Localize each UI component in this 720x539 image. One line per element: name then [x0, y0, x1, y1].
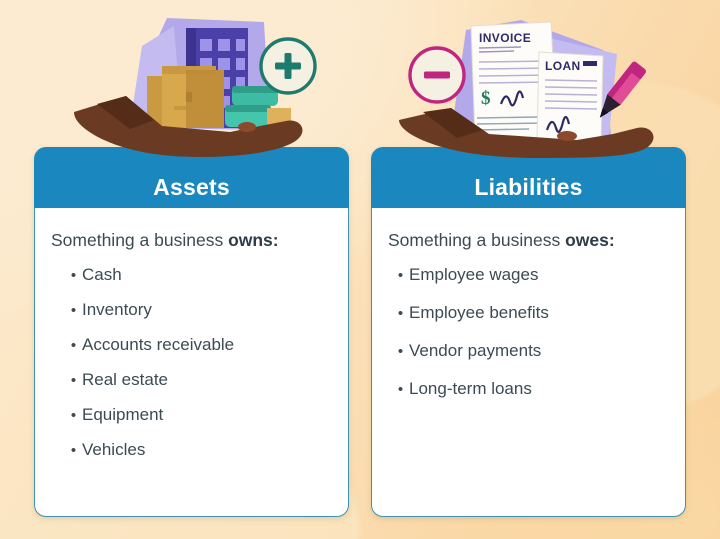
liabilities-card-header: Liabilities	[371, 147, 686, 208]
list-item: • Employee wages	[392, 266, 669, 283]
minus-circle-icon	[410, 48, 464, 102]
svg-text:INVOICE: INVOICE	[479, 31, 531, 45]
bullet-icon: •	[65, 443, 82, 458]
assets-card-header: Assets	[34, 147, 349, 208]
bullet-icon: •	[65, 408, 82, 423]
signature-pen	[593, 60, 647, 122]
list-item-label: Long-term loans	[409, 380, 532, 397]
office-building	[186, 28, 248, 128]
list-item: • Long-term loans	[392, 380, 669, 397]
bullet-icon: •	[65, 373, 82, 388]
loan-document: LOAN	[537, 52, 603, 142]
assets-card-body: Something a business owns: • Cash • Inve…	[34, 208, 349, 517]
liabilities-card-body: Something a business owes: • Employee wa…	[371, 208, 686, 517]
list-item-label: Employee wages	[409, 266, 538, 283]
assets-intro: Something a business owns:	[51, 230, 332, 252]
liabilities-intro-prefix: Something a business	[388, 230, 565, 250]
panel-assets: Assets Something a business owns: • Cash…	[34, 0, 349, 539]
bullet-icon: •	[392, 306, 409, 321]
list-item-label: Cash	[82, 266, 122, 283]
liabilities-intro: Something a business owes:	[388, 230, 669, 252]
list-item-label: Accounts receivable	[82, 336, 234, 353]
cardboard-boxes	[147, 66, 224, 128]
assets-card: Assets Something a business owns: • Cash…	[34, 147, 349, 517]
list-item-label: Inventory	[82, 301, 152, 318]
assets-list: • Cash • Inventory • Accounts receivable…	[51, 266, 332, 458]
list-item-label: Vehicles	[82, 441, 145, 458]
assets-intro-prefix: Something a business	[51, 230, 228, 250]
list-item-label: Employee benefits	[409, 304, 549, 321]
list-item: • Employee benefits	[392, 304, 669, 321]
liabilities-title: Liabilities	[474, 176, 582, 199]
comparison-panels: Assets Something a business owns: • Cash…	[0, 0, 720, 539]
list-item: • Cash	[65, 266, 332, 283]
list-item-label: Equipment	[82, 406, 163, 423]
svg-text:LOAN: LOAN	[545, 59, 581, 73]
plus-circle-icon	[261, 39, 315, 93]
svg-text:$: $	[481, 88, 491, 109]
cash-stacks	[225, 86, 291, 130]
list-item: • Inventory	[65, 301, 332, 318]
bullet-icon: •	[65, 303, 82, 318]
bullet-icon: •	[392, 344, 409, 359]
hand-holding-liabilities-illustration: INVOICE $	[371, 8, 686, 158]
list-item: • Equipment	[65, 406, 332, 423]
hand-holding-assets-illustration	[34, 8, 349, 158]
liabilities-card: Liabilities Something a business owes: •…	[371, 147, 686, 517]
bullet-icon: •	[65, 338, 82, 353]
list-item: • Accounts receivable	[65, 336, 332, 353]
list-item: • Vehicles	[65, 441, 332, 458]
bullet-icon: •	[392, 268, 409, 283]
bullet-icon: •	[65, 268, 82, 283]
list-item-label: Real estate	[82, 371, 168, 388]
assets-title: Assets	[153, 176, 230, 199]
liabilities-list: • Employee wages • Employee benefits • V…	[388, 266, 669, 397]
list-item-label: Vendor payments	[409, 342, 541, 359]
invoice-document: INVOICE $	[471, 22, 557, 140]
bullet-icon: •	[392, 382, 409, 397]
list-item: • Vendor payments	[392, 342, 669, 359]
assets-intro-emphasis: owns:	[228, 230, 279, 250]
liabilities-intro-emphasis: owes:	[565, 230, 615, 250]
list-item: • Real estate	[65, 371, 332, 388]
panel-liabilities: INVOICE $	[371, 0, 686, 539]
